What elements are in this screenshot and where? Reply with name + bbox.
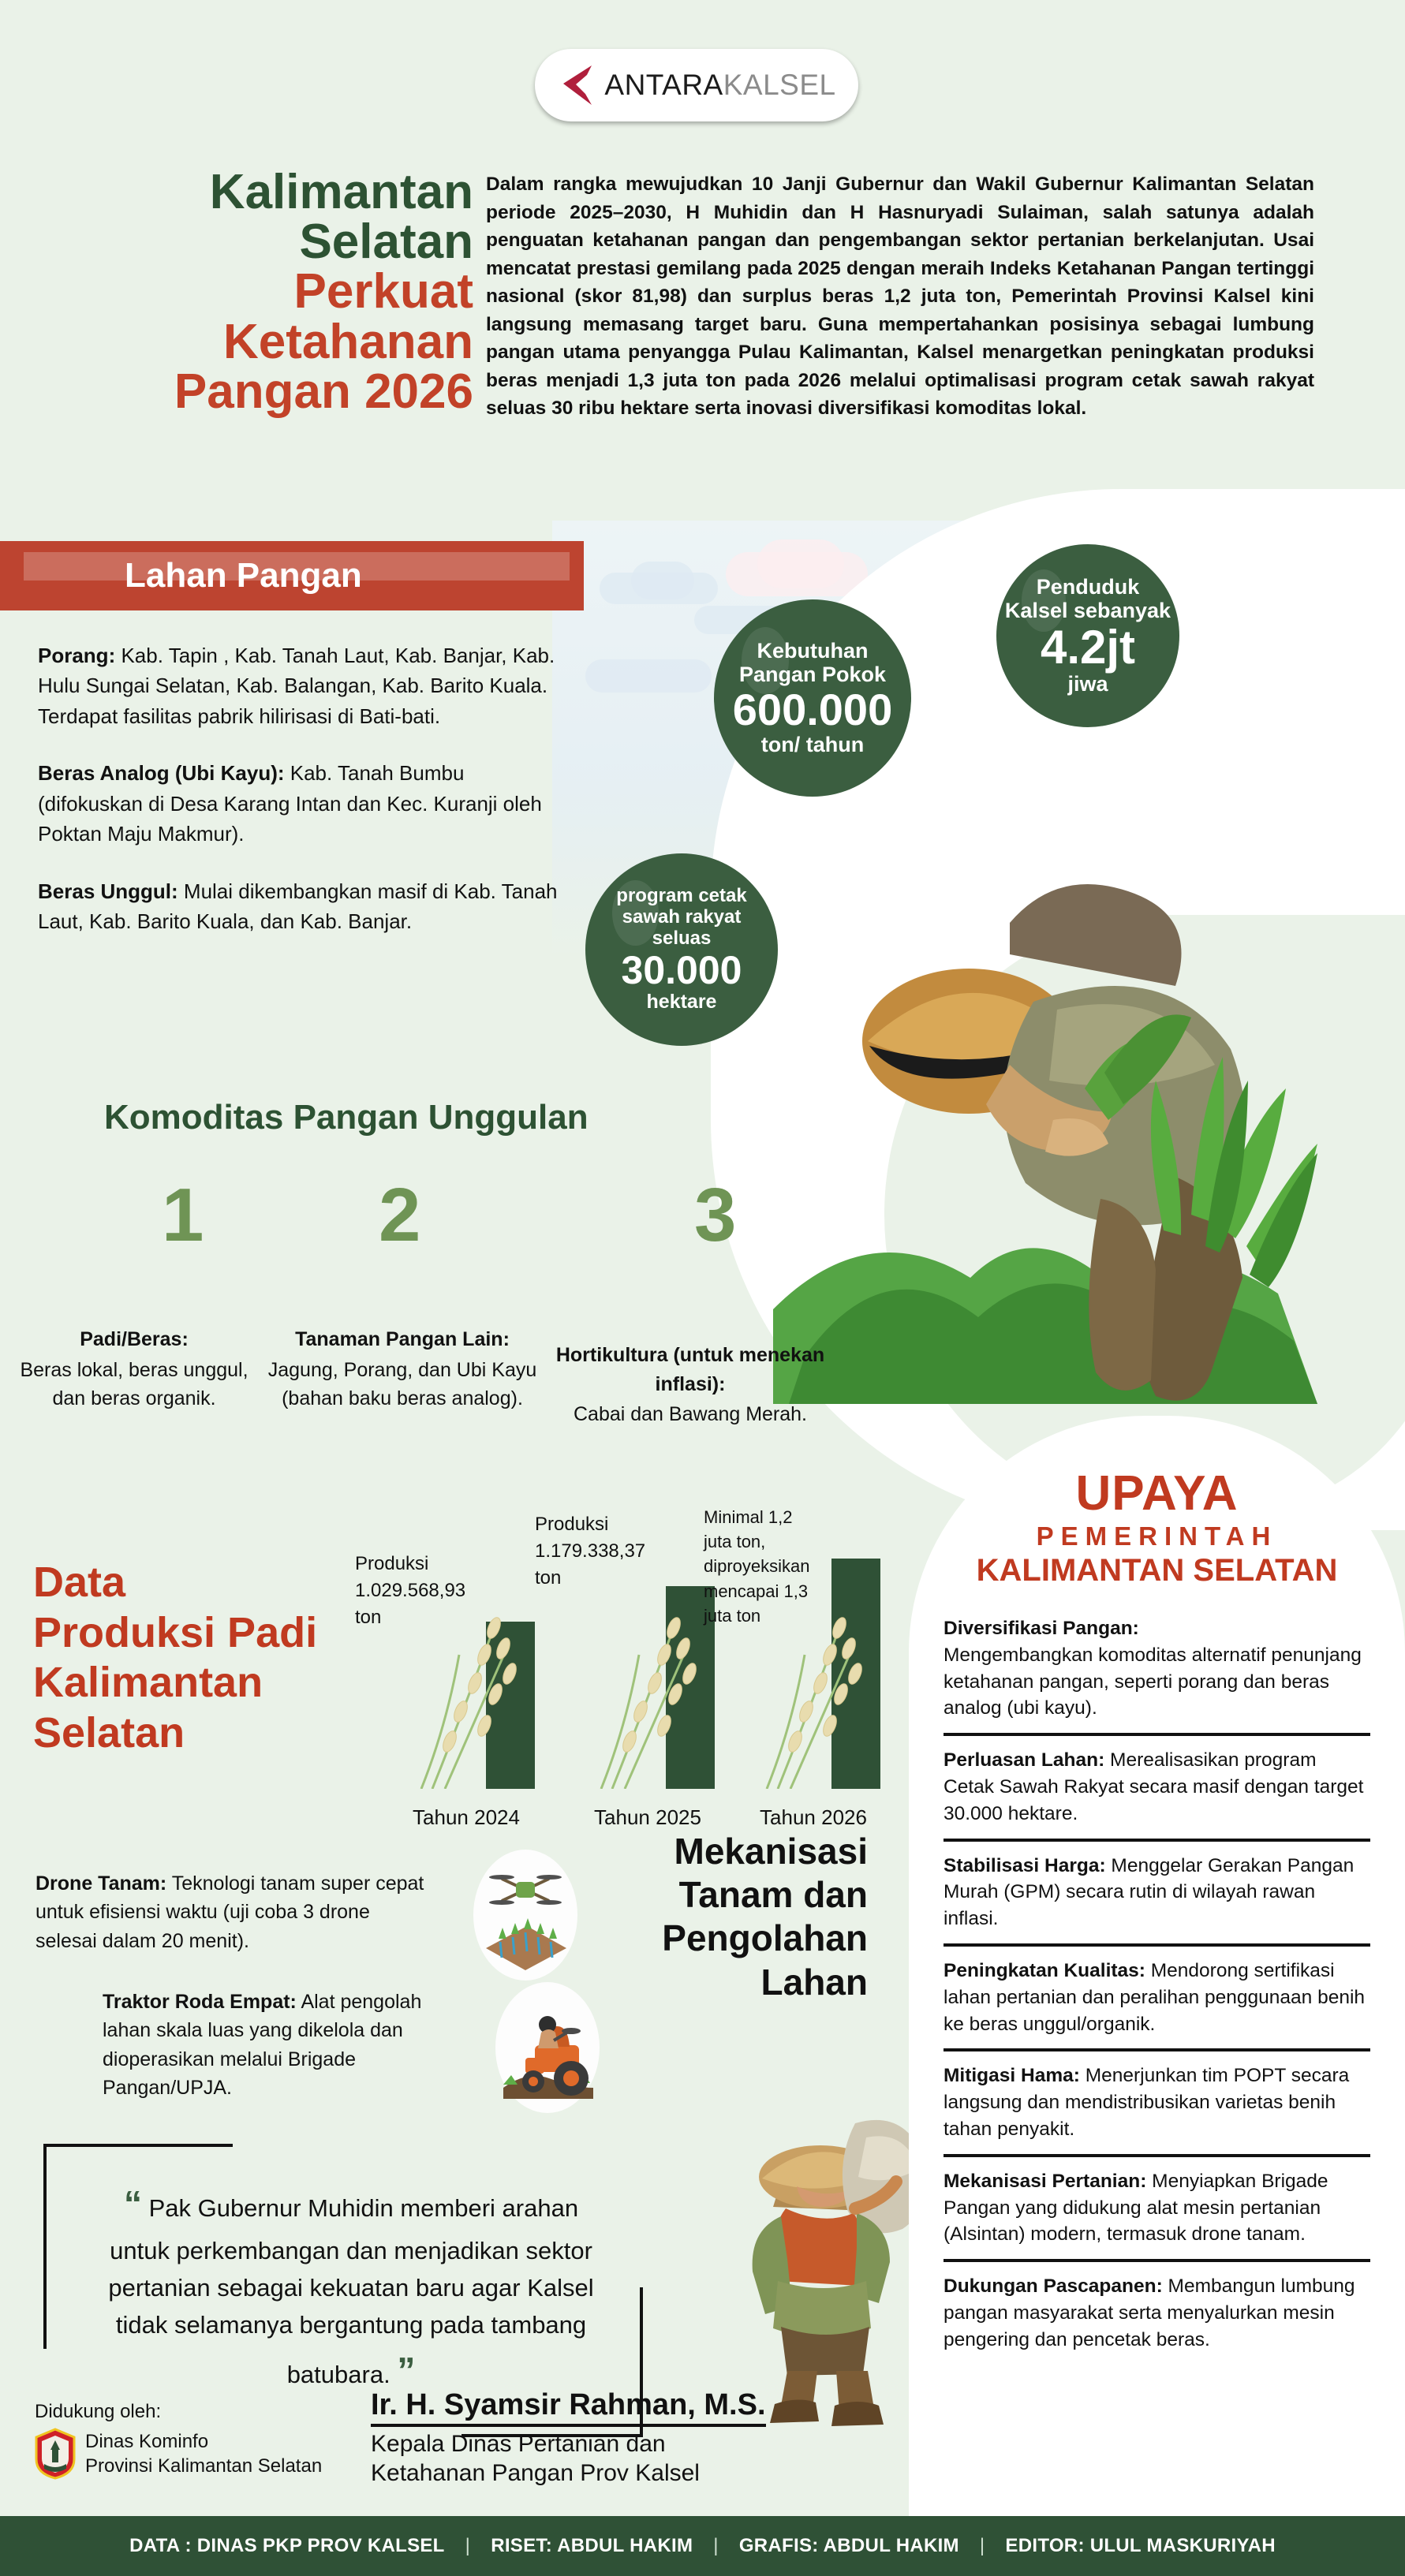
mekanisasi-item-label: Traktor Roda Empat: bbox=[103, 1991, 297, 2013]
credit-riset: RISET: ABDUL HAKIM bbox=[491, 2535, 693, 2557]
bar-label-line: Produksi bbox=[355, 1551, 513, 1577]
chart-title-line-4: Selatan bbox=[33, 1708, 364, 1759]
lahan-item: Porang: Kab. Tapin , Kab. Tanah Laut, Ka… bbox=[38, 640, 559, 731]
supported-by-block: Didukung oleh: Dinas Kominfo Provinsi Ka… bbox=[35, 2401, 366, 2480]
stat-label-line-2: sawah rakyat bbox=[622, 906, 742, 928]
mekanisasi-item-label: Drone Tanam: bbox=[35, 1872, 166, 1895]
upaya-item-label: Mekanisasi Pertanian: bbox=[944, 2171, 1146, 2192]
logo-primary-text: ANTARA bbox=[604, 69, 723, 101]
stat-value: 600.000 bbox=[733, 687, 892, 733]
quote-open-mark: “ bbox=[124, 2183, 142, 2224]
title-line-5: Pangan 2026 bbox=[79, 367, 473, 416]
drone-icon bbox=[478, 1860, 573, 1970]
upaya-item-label: Stabilisasi Harga: bbox=[944, 1855, 1106, 1876]
rice-stalk-icon bbox=[589, 1607, 723, 1789]
quote-body: Pak Gubernur Muhidin memberi arahan untu… bbox=[108, 2194, 593, 2388]
infographic-page: ANTARAKALSEL Kalimantan Selatan Perkuat … bbox=[0, 0, 1405, 2576]
antara-arrow-icon bbox=[557, 62, 596, 108]
farmer-carrying-sack-illustration bbox=[686, 2090, 947, 2429]
lahan-pangan-header: Lahan Pangan bbox=[0, 541, 584, 610]
komoditas-number-2: 2 bbox=[379, 1178, 420, 1253]
rice-stalk-icon bbox=[754, 1607, 888, 1789]
title-line-3: Perkuat bbox=[79, 267, 473, 316]
stat-label-line-2: Pangan Pokok bbox=[739, 663, 886, 686]
upaya-item-label: Peningkatan Kualitas: bbox=[944, 1960, 1145, 1981]
stat-label: program cetak sawah rakyat seluas bbox=[616, 886, 746, 950]
lahan-pangan-list: Porang: Kab. Tapin , Kab. Tanah Laut, Ka… bbox=[38, 640, 559, 964]
upaya-divider bbox=[944, 2048, 1370, 2051]
cloud-decoration bbox=[585, 659, 712, 693]
lahan-item-label: Porang: bbox=[38, 644, 115, 667]
bar-label-line: mencapai 1,3 bbox=[704, 1579, 846, 1603]
bar-label-line: Produksi bbox=[535, 1511, 693, 1538]
credit-grafis: GRAFIS: ABDUL HAKIM bbox=[739, 2535, 959, 2557]
lahan-item-label: Beras Analog (Ubi Kayu): bbox=[38, 761, 285, 785]
chart-title-line-2: Produksi Padi bbox=[33, 1608, 364, 1659]
komoditas-item-2: Tanaman Pangan Lain: Jagung, Porang, dan… bbox=[260, 1325, 544, 1413]
komoditas-number-3: 3 bbox=[694, 1178, 736, 1253]
stat-kebutuhan-pangan-pokok: Kebutuhan Pangan Pokok 600.000 ton/ tahu… bbox=[714, 599, 911, 797]
stat-unit: hektare bbox=[647, 991, 717, 1014]
org-line-1: Dinas Kominfo bbox=[85, 2429, 322, 2454]
supported-by-label: Didukung oleh: bbox=[35, 2401, 366, 2423]
bar-label-line: Minimal 1,2 bbox=[704, 1505, 846, 1529]
komoditas-item-1: Padi/Beras: Beras lokal, beras unggul, d… bbox=[16, 1325, 252, 1413]
bar-label-line: juta ton, bbox=[704, 1529, 846, 1554]
mekanisasi-item-drone: Drone Tanam: Teknologi tanam super cepat… bbox=[35, 1869, 430, 1955]
komoditas-item-label: Tanaman Pangan Lain: bbox=[260, 1325, 544, 1354]
chart-title-line-1: Data bbox=[33, 1558, 364, 1608]
logo-secondary-text: KALSEL bbox=[723, 69, 836, 101]
upaya-title-line-2: PEMERINTAH bbox=[945, 1521, 1369, 1551]
org-line-2: Provinsi Kalimantan Selatan bbox=[85, 2454, 322, 2478]
upaya-item-label: Dukungan Pascapanen: bbox=[944, 2275, 1163, 2297]
stat-label-line-3: seluas bbox=[652, 928, 712, 949]
upaya-divider bbox=[944, 1733, 1370, 1736]
lahan-item: Beras Unggul: Mulai dikembangkan masif d… bbox=[38, 876, 559, 937]
mekanisasi-section-title: Mekanisasi Tanam dan Pengolahan Lahan bbox=[615, 1830, 868, 2004]
credits-footer: DATA : DINAS PKP PROV KALSEL | RISET: AB… bbox=[0, 2516, 1405, 2576]
credit-separator: | bbox=[713, 2535, 719, 2557]
bar-label-line: 1.179.338,37 bbox=[535, 1538, 693, 1565]
upaya-item: Stabilisasi Harga: Menggelar Gerakan Pan… bbox=[944, 1853, 1370, 1932]
quote-author-name: Ir. H. Syamsir Rahman, M.S. bbox=[371, 2388, 766, 2427]
komoditas-item-text: Jagung, Porang, dan Ubi Kayu (bahan baku… bbox=[268, 1359, 537, 1410]
tractor-icon bbox=[499, 1996, 596, 2099]
mekanisasi-title-line-4: Lahan bbox=[615, 1961, 868, 2004]
upaya-item: Mekanisasi Pertanian: Menyiapkan Brigade… bbox=[944, 2168, 1370, 2248]
quote-author-role: Kepala Dinas Pertanian dan Ketahanan Pan… bbox=[371, 2430, 860, 2488]
lahan-item-label: Beras Unggul: bbox=[38, 879, 178, 903]
antara-kalsel-logo: ANTARAKALSEL bbox=[535, 49, 858, 121]
mekanisasi-title-line-1: Mekanisasi bbox=[615, 1830, 868, 1873]
role-line-2: Ketahanan Pangan Prov Kalsel bbox=[371, 2459, 860, 2488]
komoditas-item-text: Beras lokal, beras unggul, dan beras org… bbox=[20, 1359, 248, 1410]
stat-program-cetak-sawah: program cetak sawah rakyat seluas 30.000… bbox=[585, 853, 778, 1046]
stat-label-line-2: Kalsel sebanyak bbox=[1005, 599, 1171, 622]
stat-label: Penduduk Kalsel sebanyak bbox=[1005, 575, 1171, 622]
upaya-divider bbox=[944, 2259, 1370, 2262]
quote-text-block: “ Pak Gubernur Muhidin memberi arahan un… bbox=[91, 2177, 611, 2399]
stat-value: 30.000 bbox=[622, 950, 742, 991]
bar-category-2024: Tahun 2024 bbox=[376, 1805, 557, 1830]
upaya-item-label: Diversifikasi Pangan: bbox=[944, 1618, 1139, 1639]
komoditas-section-title: Komoditas Pangan Unggulan bbox=[104, 1098, 735, 1137]
title-line-2: Selatan bbox=[79, 217, 473, 267]
lahan-item-text: Kab. Tapin , Kab. Tanah Laut, Kab. Banja… bbox=[38, 644, 555, 728]
farmer-illustration bbox=[773, 805, 1317, 1404]
upaya-item: Diversifikasi Pangan: Mengembangkan komo… bbox=[944, 1615, 1370, 1722]
quote-attribution: Ir. H. Syamsir Rahman, M.S. Kepala Dinas… bbox=[371, 2388, 860, 2488]
komoditas-item-label: Hortikultura (untuk menekan inflasi): bbox=[552, 1341, 828, 1398]
upaya-item: Mitigasi Hama: Menerjunkan tim POPT seca… bbox=[944, 2063, 1370, 2142]
stat-label: Kebutuhan Pangan Pokok bbox=[739, 639, 886, 686]
upaya-item-label: Perluasan Lahan: bbox=[944, 1749, 1104, 1771]
produksi-padi-bar-chart: Produksi 1.029.568,93 ton Tahun 2024 bbox=[347, 1499, 899, 1830]
upaya-item: Dukungan Pascapanen: Membangun lumbung p… bbox=[944, 2273, 1370, 2353]
page-title: Kalimantan Selatan Perkuat Ketahanan Pan… bbox=[79, 167, 473, 416]
upaya-panel: UPAYA PEMERINTAH KALIMANTAN SELATAN Dive… bbox=[909, 1416, 1405, 2516]
credit-separator: | bbox=[980, 2535, 985, 2557]
komoditas-item-text: Cabai dan Bawang Merah. bbox=[574, 1403, 807, 1425]
stat-penduduk-kalsel: Penduduk Kalsel sebanyak 4.2jt jiwa bbox=[996, 544, 1179, 727]
upaya-item-label: Mitigasi Hama: bbox=[944, 2065, 1080, 2086]
quote-frame-left bbox=[43, 2144, 47, 2349]
quote-frame: “ Pak Gubernur Muhidin memberi arahan un… bbox=[43, 2130, 643, 2382]
stat-unit: jiwa bbox=[1067, 672, 1108, 696]
upaya-title-line-1: UPAYA bbox=[945, 1469, 1369, 1518]
provincial-crest-icon bbox=[35, 2428, 76, 2480]
supporting-organization: Dinas Kominfo Provinsi Kalimantan Selata… bbox=[85, 2429, 322, 2478]
title-line-1: Kalimantan bbox=[79, 167, 473, 217]
title-line-4: Ketahanan bbox=[79, 317, 473, 367]
bar-category-2025: Tahun 2025 bbox=[557, 1805, 738, 1830]
quote-close-mark: ” bbox=[397, 2350, 415, 2391]
upaya-divider bbox=[944, 1839, 1370, 1842]
cloud-decoration bbox=[631, 562, 694, 599]
credit-editor: EDITOR: ULUL MASKURIYAH bbox=[1005, 2535, 1275, 2557]
stat-unit: ton/ tahun bbox=[761, 733, 864, 757]
stat-value: 4.2jt bbox=[1041, 623, 1135, 672]
mekanisasi-item-traktor: Traktor Roda Empat: Alat pengolah lahan … bbox=[103, 1988, 442, 2102]
bar-label-line: 1.029.568,93 bbox=[355, 1577, 513, 1604]
intro-paragraph: Dalam rangka mewujudkan 10 Janji Gubernu… bbox=[486, 170, 1314, 423]
lahan-pangan-heading-text: Lahan Pangan bbox=[125, 556, 362, 595]
chart-title-line-3: Kalimantan bbox=[33, 1658, 364, 1708]
rice-stalk-icon bbox=[409, 1607, 543, 1789]
credit-data: DATA : DINAS PKP PROV KALSEL bbox=[129, 2535, 445, 2557]
upaya-divider bbox=[944, 2154, 1370, 2157]
upaya-divider bbox=[944, 1943, 1370, 1947]
tractor-icon-badge bbox=[495, 1982, 600, 2113]
logo-wordmark: ANTARAKALSEL bbox=[604, 69, 835, 102]
komoditas-number-1: 1 bbox=[162, 1178, 204, 1253]
credit-separator: | bbox=[465, 2535, 471, 2557]
komoditas-item-3: Hortikultura (untuk menekan inflasi): Ca… bbox=[552, 1341, 828, 1429]
upaya-item-text: Mengembangkan komoditas alternatif penun… bbox=[944, 1645, 1362, 1719]
quote-frame-top-left bbox=[43, 2144, 233, 2147]
upaya-title-line-3: KALIMANTAN SELATAN bbox=[945, 1553, 1369, 1589]
stat-label-line-1: program cetak bbox=[616, 885, 746, 906]
drone-icon-badge bbox=[473, 1850, 577, 1981]
chart-title: Data Produksi Padi Kalimantan Selatan bbox=[33, 1558, 364, 1759]
lahan-item: Beras Analog (Ubi Kayu): Kab. Tanah Bumb… bbox=[38, 758, 559, 849]
stat-label-line-1: Penduduk bbox=[1037, 575, 1140, 599]
komoditas-item-label: Padi/Beras: bbox=[16, 1325, 252, 1354]
mekanisasi-title-line-2: Tanam dan bbox=[615, 1873, 868, 1917]
bar-category-2026: Tahun 2026 bbox=[723, 1805, 904, 1830]
cloud-decoration bbox=[757, 539, 844, 588]
upaya-item: Perluasan Lahan: Merealisasikan program … bbox=[944, 1747, 1370, 1827]
bar-label-line: diproyeksikan bbox=[704, 1554, 846, 1578]
upaya-item: Peningkatan Kualitas: Mendorong sertifik… bbox=[944, 1958, 1370, 2037]
stat-label-line-1: Kebutuhan bbox=[757, 639, 868, 663]
mekanisasi-title-line-3: Pengolahan bbox=[615, 1917, 868, 1960]
role-line-1: Kepala Dinas Pertanian dan bbox=[371, 2430, 860, 2459]
bar-value-label-2025: Produksi 1.179.338,37 ton bbox=[535, 1511, 693, 1592]
